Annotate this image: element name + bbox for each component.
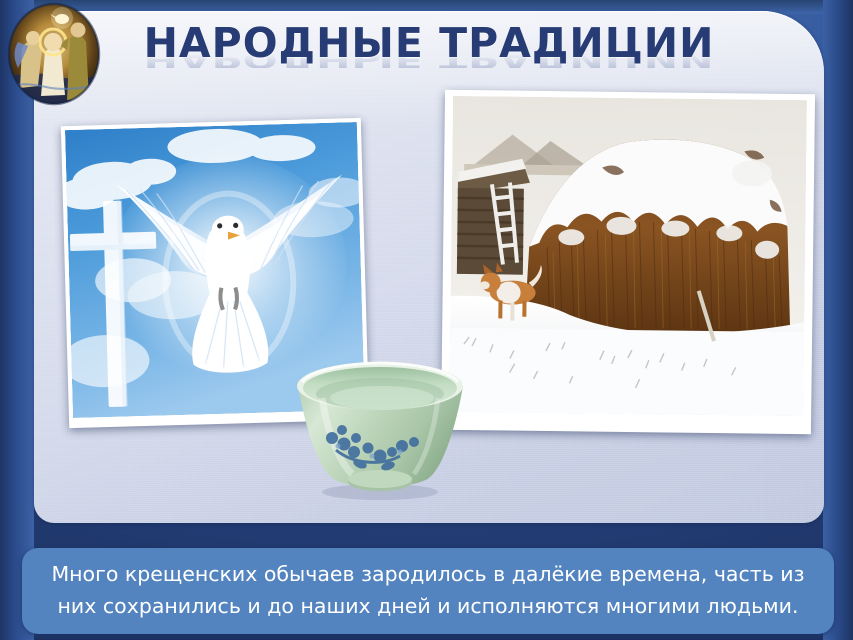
slide-frame-right [823,0,853,640]
presentation-slide: НАРОДНЫЕ ТРАДИЦИИ НАРОДНЫЕ ТРАДИЦИИ [0,0,853,640]
slide-caption: Много крещенских обычаев зародилось в да… [22,548,834,634]
baptism-of-christ-icon [6,2,102,106]
ceramic-bowl [288,352,473,500]
winter-haystack-photo [441,90,815,434]
